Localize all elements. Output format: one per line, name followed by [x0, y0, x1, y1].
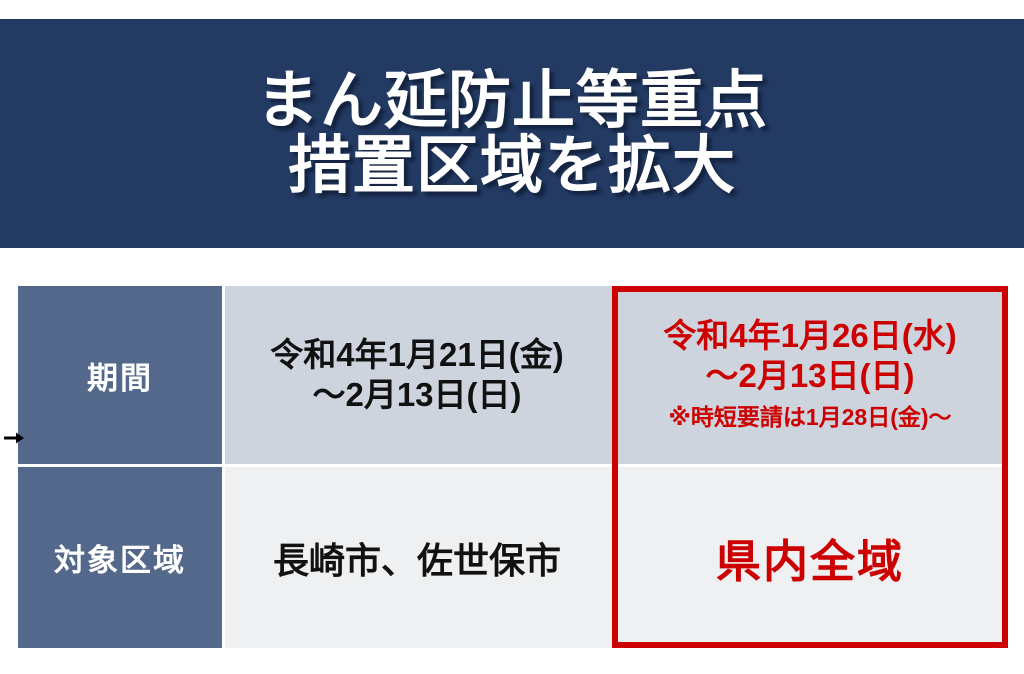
column-divider: [222, 286, 225, 648]
arrow-right-icon: [4, 431, 24, 445]
row-divider: [18, 464, 1008, 467]
cell-area-expanded: 県内全域: [612, 467, 1008, 648]
banner-title-line-1: まん延防止等重点: [256, 69, 768, 134]
area-current-text: 長崎市、佐世保市: [273, 532, 561, 584]
row-label-period: 期間: [18, 286, 222, 464]
row-label-target-area: 対象区域: [18, 467, 222, 648]
period-current-line-2: 〜2月13日(日): [312, 375, 521, 415]
table-row-target-area: 対象区域 長崎市、佐世保市 県内全域: [18, 467, 1008, 648]
table-row-period: 期間 令和4年1月21日(金) 〜2月13日(日) 令和4年1月26日(水) 〜…: [18, 286, 1008, 464]
period-expanded-note: ※時短要請は1月28日(金)〜: [668, 400, 951, 435]
period-expanded-line-1: 令和4年1月26日(水): [663, 316, 956, 356]
title-banner: まん延防止等重点 措置区域を拡大: [0, 19, 1024, 248]
comparison-table: 期間 令和4年1月21日(金) 〜2月13日(日) 令和4年1月26日(水) 〜…: [18, 286, 1008, 648]
area-expanded-text: 県内全域: [716, 525, 904, 590]
period-expanded-line-2: 〜2月13日(日): [705, 356, 914, 396]
cell-period-expanded: 令和4年1月26日(水) 〜2月13日(日) ※時短要請は1月28日(金)〜: [612, 286, 1008, 464]
cell-area-current: 長崎市、佐世保市: [222, 467, 612, 648]
banner-title-line-2: 措置区域を拡大: [288, 134, 736, 199]
period-current-line-1: 令和4年1月21日(金): [270, 335, 563, 375]
cell-period-current: 令和4年1月21日(金) 〜2月13日(日): [222, 286, 612, 464]
